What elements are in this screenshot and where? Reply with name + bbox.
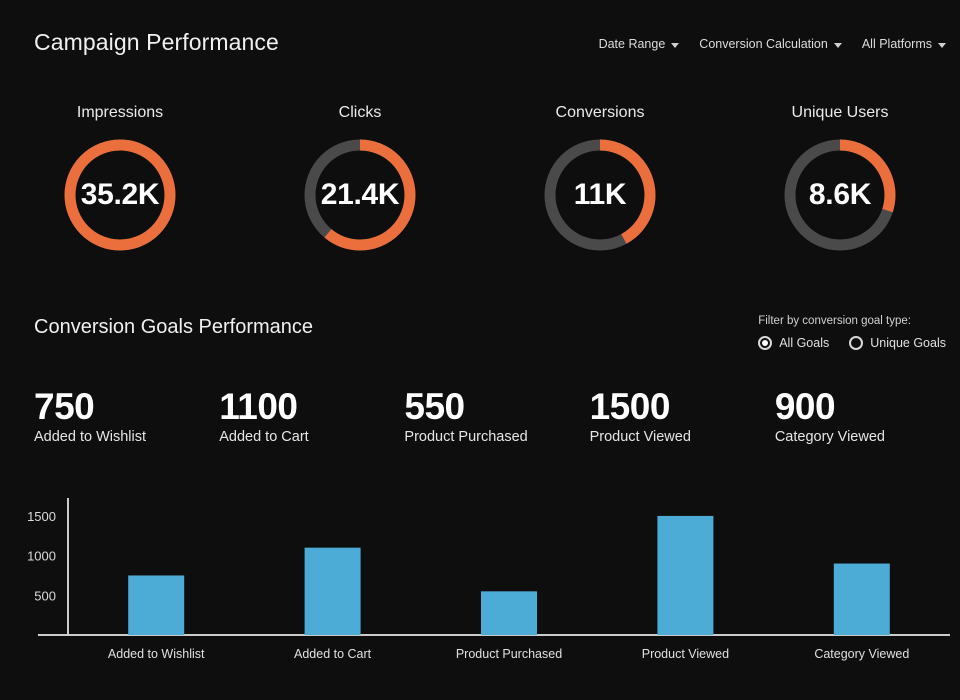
radio-unique-goals[interactable]: Unique Goals	[849, 336, 946, 350]
page-title: Campaign Performance	[34, 29, 279, 56]
gauge-label: Clicks	[339, 104, 382, 122]
kpi-label: Product Purchased	[404, 429, 589, 445]
chevron-down-icon	[834, 43, 842, 48]
radio-unselected-icon[interactable]	[849, 336, 863, 350]
kpi-product-purchased: 550 Product Purchased	[404, 388, 589, 445]
section-title: Conversion Goals Performance	[34, 300, 313, 339]
conversion-calculation-label: Conversion Calculation	[699, 37, 828, 51]
x-axis-category-label: Category Viewed	[814, 647, 909, 661]
radio-selected-icon[interactable]	[758, 336, 772, 350]
kpi-value: 550	[404, 388, 589, 426]
gauge-value: 21.4K	[298, 133, 422, 257]
radio-label: Unique Goals	[870, 336, 946, 350]
gauge-clicks[interactable]: Clicks 21.4K	[240, 104, 480, 257]
gauge-impressions[interactable]: Impressions 35.2K	[0, 104, 240, 257]
kpi-label: Category Viewed	[775, 429, 960, 445]
donut-chart: 8.6K	[778, 133, 902, 257]
radio-all-goals[interactable]: All Goals	[758, 336, 829, 350]
kpi-value: 900	[775, 388, 960, 426]
platforms-label: All Platforms	[862, 37, 932, 51]
kpi-product-viewed: 1500 Product Viewed	[590, 388, 775, 445]
date-range-label: Date Range	[599, 37, 666, 51]
donut-chart: 35.2K	[58, 133, 182, 257]
kpi-added-to-cart: 1100 Added to Cart	[219, 388, 404, 445]
kpi-value: 1500	[590, 388, 775, 426]
bar[interactable]	[657, 516, 713, 635]
x-axis-category-label: Added to Cart	[294, 647, 372, 661]
y-axis-tick-label: 1000	[27, 549, 56, 564]
gauge-unique-users[interactable]: Unique Users 8.6K	[720, 104, 960, 257]
y-axis-tick-label: 500	[34, 588, 56, 603]
dashboard-page: Campaign Performance Date Range Conversi…	[0, 0, 960, 700]
conversion-calculation-dropdown[interactable]: Conversion Calculation	[699, 37, 842, 51]
x-axis-category-label: Product Viewed	[642, 647, 729, 661]
gauge-label: Impressions	[77, 104, 163, 122]
bar[interactable]	[481, 591, 537, 635]
gauge-label: Unique Users	[792, 104, 889, 122]
kpi-row: 750 Added to Wishlist 1100 Added to Cart…	[34, 388, 960, 445]
radio-label: All Goals	[779, 336, 829, 350]
bar[interactable]	[834, 564, 890, 635]
donut-chart: 21.4K	[298, 133, 422, 257]
x-axis-category-label: Product Purchased	[456, 647, 562, 661]
kpi-label: Product Viewed	[590, 429, 775, 445]
donut-chart: 11K	[538, 133, 662, 257]
kpi-category-viewed: 900 Category Viewed	[775, 388, 960, 445]
bar[interactable]	[305, 548, 361, 635]
kpi-value: 1100	[219, 388, 404, 426]
kpi-added-to-wishlist: 750 Added to Wishlist	[34, 388, 219, 445]
chevron-down-icon	[938, 43, 946, 48]
gauge-label: Conversions	[556, 104, 645, 122]
gauge-conversions[interactable]: Conversions 11K	[480, 104, 720, 257]
platforms-dropdown[interactable]: All Platforms	[862, 37, 946, 51]
bar[interactable]	[128, 575, 184, 635]
filter-caption: Filter by conversion goal type:	[758, 315, 911, 327]
metric-gauges: Impressions 35.2K Clicks 21.4K Conversio…	[0, 104, 960, 257]
goals-section-header: Conversion Goals Performance Filter by c…	[0, 300, 960, 362]
kpi-label: Added to Cart	[219, 429, 404, 445]
goal-type-filter: Filter by conversion goal type: All Goal…	[758, 300, 946, 350]
header-controls: Date Range Conversion Calculation All Pl…	[599, 33, 946, 51]
chevron-down-icon	[671, 43, 679, 48]
kpi-value: 750	[34, 388, 219, 426]
x-axis-category-label: Added to Wishlist	[108, 647, 205, 661]
gauge-value: 11K	[538, 133, 662, 257]
page-header: Campaign Performance Date Range Conversi…	[0, 0, 960, 84]
y-axis-tick-label: 1500	[27, 509, 56, 524]
gauge-value: 8.6K	[778, 133, 902, 257]
gauge-value: 35.2K	[58, 133, 182, 257]
date-range-dropdown[interactable]: Date Range	[599, 37, 680, 51]
conversion-goals-bar-chart: 50010001500Added to WishlistAdded to Car…	[0, 490, 960, 690]
kpi-label: Added to Wishlist	[34, 429, 219, 445]
radio-group: All Goals Unique Goals	[758, 336, 946, 350]
